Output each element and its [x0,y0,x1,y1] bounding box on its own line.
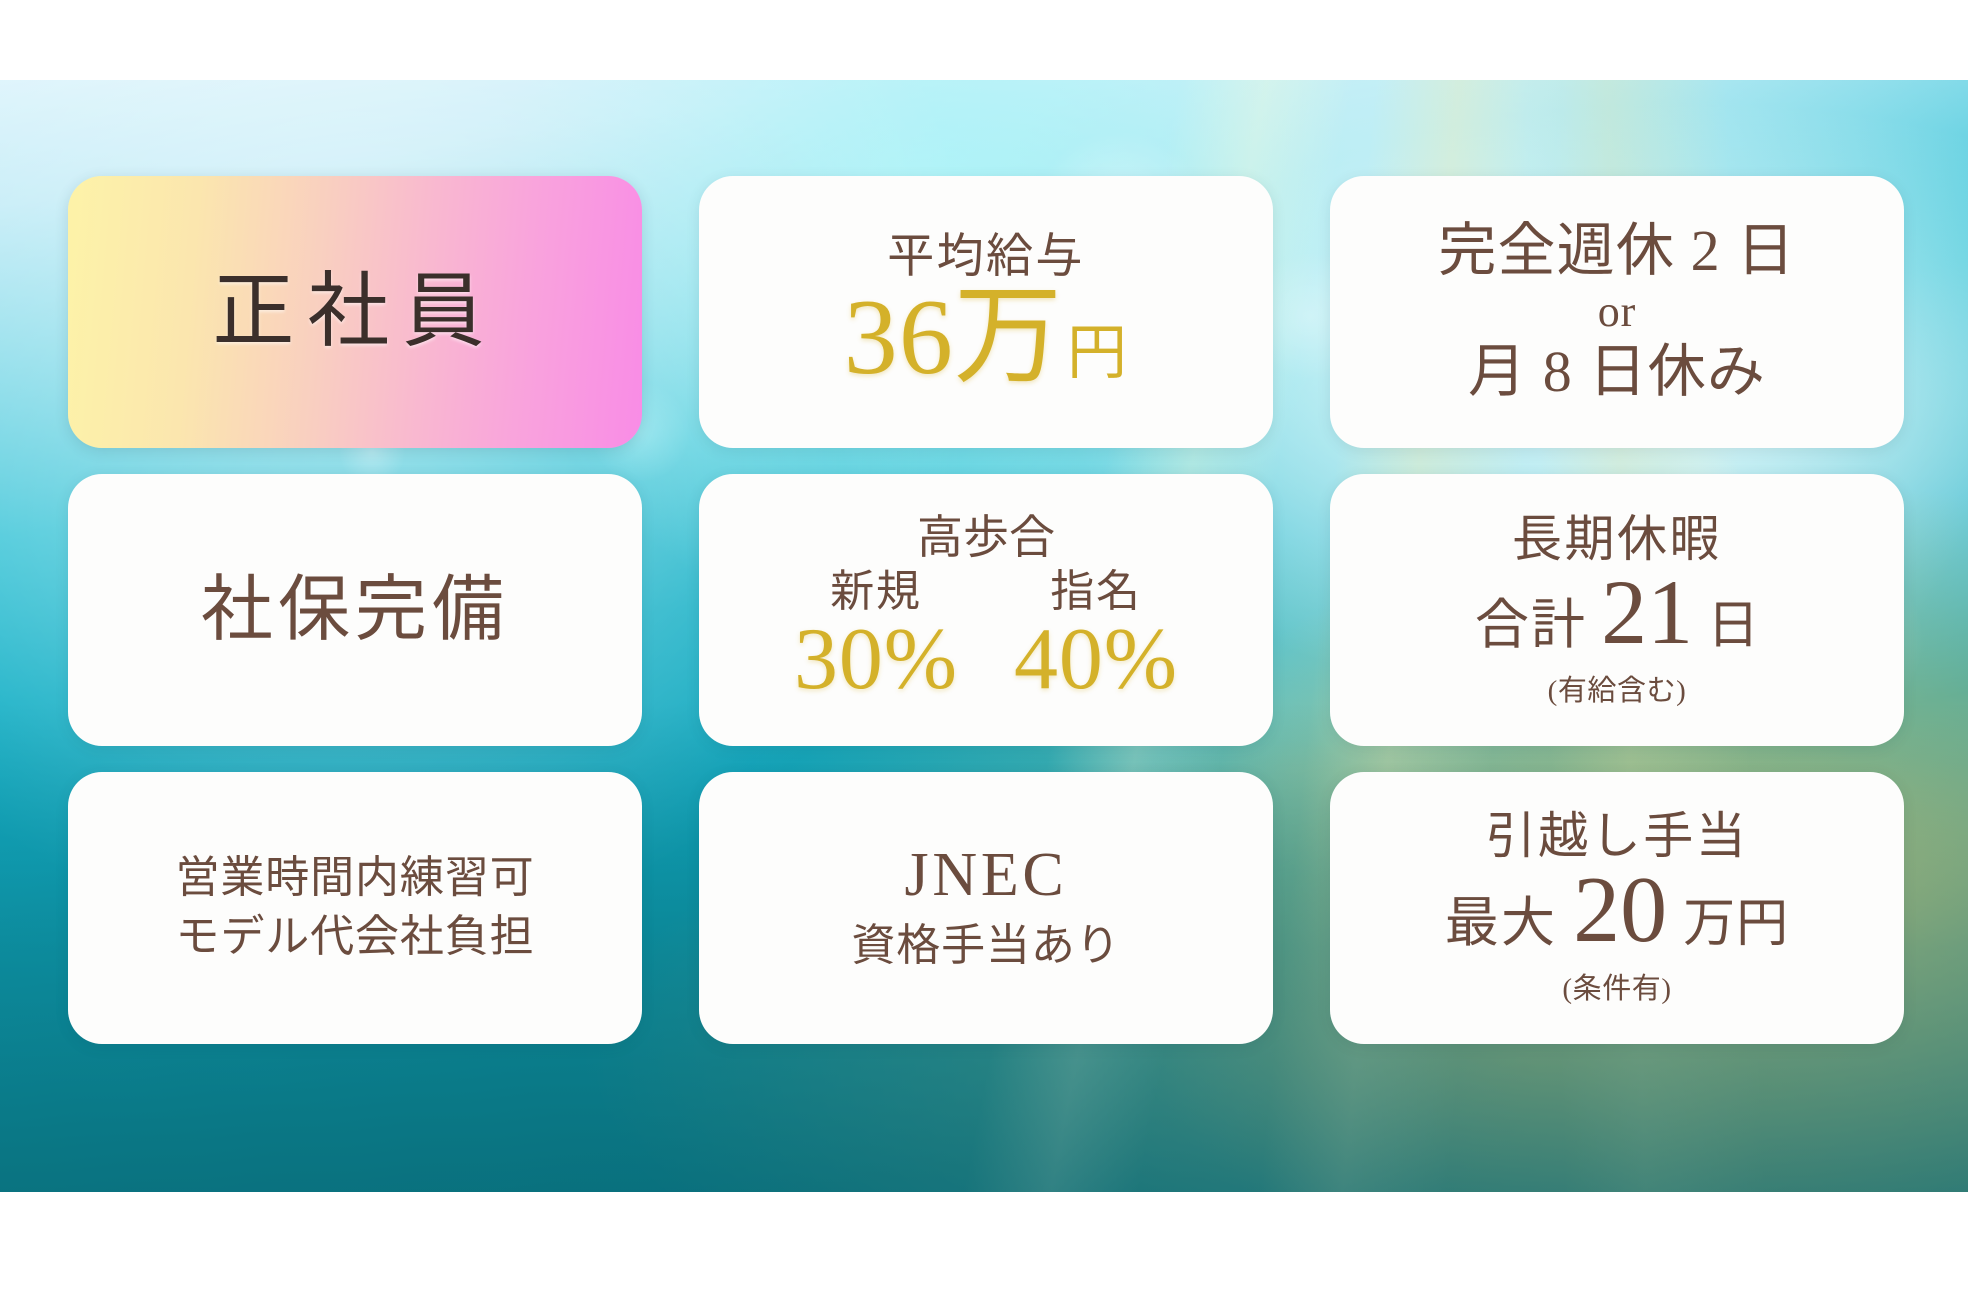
training-line-1: 営業時間内練習可 [175,849,534,908]
average-salary-kicker: 平均給与 [887,232,1084,283]
card-employment-type[interactable]: 正社員 [68,176,642,448]
benefits-infographic: 正社員 平均給与 36万 円 完全週休 2 日 or 月 8 日休み 社保完備 … [0,0,1968,1312]
training-line-2: モデル代会社負担 [175,908,534,967]
moving-allowance-number: 20 [1573,863,1667,957]
card-long-vacation[interactable]: 長期休暇 合計 21 日 (有給含む) [1330,474,1904,746]
days-off-line-2: 月 8 日休み [1468,338,1766,406]
commission-label-repeat: 指名 [1050,569,1142,615]
commission-title: 高歩合 [917,515,1055,561]
moving-allowance-note: (条件有) [1562,965,1671,1007]
employment-type-label: 正社員 [212,264,497,361]
commission-column-new: 新規 30% [771,569,981,705]
moving-allowance-unit: 万円 [1683,881,1789,956]
moving-allowance-amount: 最大 20 万円 [1445,863,1789,957]
long-vacation-note: (有給含む) [1548,667,1687,709]
benefit-card-grid: 正社員 平均給与 36万 円 完全週休 2 日 or 月 8 日休み 社保完備 … [68,176,1904,1044]
average-salary-value: 36万 [844,284,1063,392]
social-insurance-label: 社保完備 [201,568,509,653]
moving-allowance-lead: 最大 [1445,878,1557,957]
long-vacation-number: 21 [1601,566,1693,658]
days-off-line-1: 完全週休 2 日 [1438,217,1795,285]
card-days-off[interactable]: 完全週休 2 日 or 月 8 日休み [1330,176,1904,448]
card-commission[interactable]: 高歩合 新規 30% 指名 40% [699,474,1273,746]
card-moving-allowance[interactable]: 引越し手当 最大 20 万円 (条件有) [1330,772,1904,1044]
qualification-subtitle: 資格手当あり [851,917,1120,976]
card-training[interactable]: 営業時間内練習可 モデル代会社負担 [68,772,642,1044]
card-average-salary[interactable]: 平均給与 36万 円 [699,176,1273,448]
card-social-insurance[interactable]: 社保完備 [68,474,642,746]
commission-column-repeat: 指名 40% [991,569,1201,705]
moving-allowance-title: 引越し手当 [1486,809,1749,863]
long-vacation-title: 長期休暇 [1512,512,1722,566]
commission-label-new: 新規 [830,569,922,615]
average-salary-unit: 円 [1067,304,1128,391]
long-vacation-amount: 合計 21 日 [1475,566,1759,659]
qualification-title: JNEC [904,840,1067,911]
commission-columns: 新規 30% 指名 40% [771,569,1201,705]
commission-value-new: 30% [794,615,958,705]
commission-value-repeat: 40% [1014,615,1178,705]
card-qualification[interactable]: JNEC 資格手当あり [699,772,1273,1044]
long-vacation-unit: 日 [1707,583,1759,658]
days-off-connector: or [1598,286,1636,339]
long-vacation-lead: 合計 [1475,580,1587,659]
average-salary-amount: 36万 円 [844,284,1128,392]
